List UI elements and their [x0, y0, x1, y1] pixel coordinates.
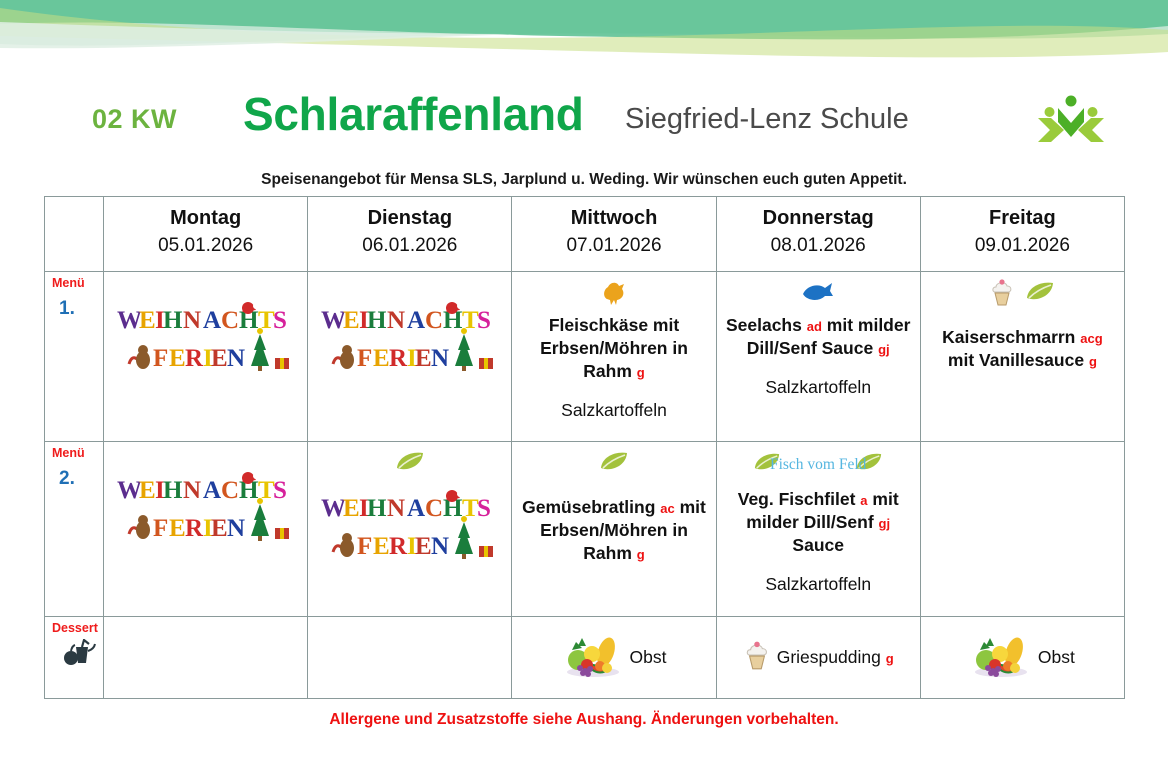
dish-text: Gemüsebratling — [522, 497, 655, 517]
weekly-menu-table: Montag 05.01.2026 Dienstag 06.01.2026 Mi… — [44, 196, 1125, 699]
day-date: 07.01.2026 — [514, 232, 713, 261]
svg-text:F: F — [153, 345, 168, 372]
svg-text:E: E — [169, 515, 186, 542]
menu-cell-menu1-montag: W E I H N A C H T S — [104, 271, 308, 441]
dessert-content: Griespudding g — [725, 621, 912, 694]
svg-text:H: H — [163, 307, 183, 334]
svg-text:S: S — [477, 307, 491, 334]
dessert-label: Griespudding g — [777, 647, 894, 668]
day-date: 05.01.2026 — [106, 232, 305, 261]
svg-text:R: R — [389, 345, 408, 372]
svg-text:E: E — [139, 307, 156, 334]
svg-text:A: A — [203, 307, 221, 334]
svg-text:N: N — [227, 515, 245, 542]
table-row-menu-2: Menü 2. W E I H N A C H — [45, 441, 1125, 616]
svg-text:C: C — [221, 307, 239, 334]
svg-text:N: N — [387, 307, 405, 334]
day-date: 06.01.2026 — [310, 232, 509, 261]
svg-text:H: H — [163, 477, 183, 504]
dish-text: Kaiserschmarrn — [942, 327, 1075, 347]
menu-cell-menu2-freitag — [920, 441, 1124, 616]
subtitle-text: Speisenangebot für Mensa SLS, Jarplund u… — [0, 171, 1168, 189]
svg-text:C: C — [425, 307, 443, 334]
dessert-cell-montag — [104, 616, 308, 698]
svg-text:E: E — [343, 495, 360, 522]
svg-text:R: R — [389, 533, 408, 560]
svg-text:S: S — [273, 477, 287, 504]
row-label-menu-1: Menü 1. — [45, 271, 104, 441]
row-label-text: Menü — [52, 447, 103, 461]
row-label-text: Dessert — [52, 622, 103, 636]
day-header-mittwoch: Mittwoch 07.01.2026 — [512, 197, 716, 272]
dessert-content: Obst — [520, 621, 707, 694]
row-number-text: 1. — [59, 298, 103, 320]
icon-row — [316, 448, 503, 482]
day-header-freitag: Freitag 09.01.2026 — [920, 197, 1124, 272]
menu-cell-menu2-mittwoch: Gemüsebratling ac mit Erbsen/Möhren in R… — [512, 441, 716, 616]
side-dish: Salzkartoffeln — [725, 573, 912, 596]
fish-icon — [801, 280, 835, 309]
icon-row — [725, 278, 912, 312]
dish-name: Fleischkäse mit Erbsen/Möhren in Rahm g — [520, 314, 707, 383]
weihnachtsferien-clipart: W E I H N A C H T S — [316, 300, 503, 381]
svg-text:R: R — [185, 345, 204, 372]
dessert-label-text: Griespudding — [777, 647, 881, 667]
day-header-montag: Montag 05.01.2026 — [104, 197, 308, 272]
dessert-content: Obst — [929, 621, 1116, 694]
menu-cell-menu1-donnerstag: Seelachs ad mit milder Dill/Senf Sauce g… — [716, 271, 920, 441]
allergen-code: acg — [1080, 331, 1102, 346]
allergen-code: g — [886, 651, 894, 666]
dish-text-rest: mit Vanillesauce — [948, 350, 1084, 370]
dessert-cell-freitag: Obst — [920, 616, 1124, 698]
row-label-text: Menü — [52, 277, 103, 291]
dish-name: Seelachs ad mit milder Dill/Senf Sauce g… — [725, 314, 912, 360]
svg-text:H: H — [367, 307, 387, 334]
dish-text: Veg. Fischfilet — [738, 489, 856, 509]
day-date: 09.01.2026 — [923, 232, 1122, 261]
row-number-text: 2. — [59, 468, 103, 490]
svg-text:F: F — [153, 515, 168, 542]
icon-row — [520, 448, 707, 482]
day-name: Donnerstag — [719, 205, 918, 232]
svg-text:A: A — [407, 307, 425, 334]
day-name: Mittwoch — [514, 205, 713, 232]
dessert-label: Obst — [1038, 647, 1075, 668]
svg-text:H: H — [367, 495, 387, 522]
svg-text:E: E — [211, 515, 228, 542]
side-dish: Salzkartoffeln — [520, 399, 707, 422]
cupcake-icon — [743, 638, 771, 677]
svg-text:C: C — [221, 477, 239, 504]
side-dish: Salzkartoffeln — [725, 376, 912, 399]
svg-text:E: E — [415, 533, 432, 560]
leaf-icon — [1025, 281, 1055, 308]
menu-cell-menu1-mittwoch: Fleischkäse mit Erbsen/Möhren in Rahm g … — [512, 271, 716, 441]
apple-drink-icon — [62, 639, 103, 672]
row-label-dessert: Dessert — [45, 616, 104, 698]
brand-title: Schlaraffenland — [243, 87, 584, 141]
dish-text: Fleischkäse mit Erbsen/Möhren in Rahm — [540, 315, 688, 381]
svg-text:S: S — [477, 495, 491, 522]
table-row-menu-1: Menü 1. W E I H N A C H — [45, 271, 1125, 441]
svg-text:N: N — [431, 345, 449, 372]
day-header-dienstag: Dienstag 06.01.2026 — [308, 197, 512, 272]
fisch-vom-feld-tagline: Fisch vom Feld — [725, 456, 912, 474]
dish-name: Gemüsebratling ac mit Erbsen/Möhren in R… — [520, 496, 707, 565]
allergen-code-2: g — [637, 547, 645, 562]
row-label-menu-2: Menü 2. — [45, 441, 104, 616]
menu-cell-menu2-donnerstag: Fisch vom Feld Veg. Fischfilet a mit mil… — [716, 441, 920, 616]
allergen-note: Allergene und Zusatzstoffe siehe Aushang… — [0, 711, 1168, 729]
menu-cell-menu1-freitag: Kaiserschmarrn acg mit Vanillesauce g — [920, 271, 1124, 441]
svg-text:E: E — [211, 345, 228, 372]
dish-name: Veg. Fischfilet a mit milder Dill/Senf g… — [725, 488, 912, 557]
day-name: Dienstag — [310, 205, 509, 232]
allergen-code-2: g — [1089, 354, 1097, 369]
leaf-icon — [395, 451, 425, 478]
svg-text:E: E — [139, 477, 156, 504]
cupcake-icon — [989, 277, 1015, 312]
header-corner-cell — [45, 197, 104, 272]
dessert-cell-dienstag — [308, 616, 512, 698]
dessert-label: Obst — [630, 647, 667, 668]
fruit-bowl-icon — [562, 632, 624, 683]
leaf-icon — [599, 451, 629, 478]
svg-text:E: E — [415, 345, 432, 372]
svg-text:N: N — [183, 307, 201, 334]
svg-text:N: N — [227, 345, 245, 372]
dish-text: Seelachs — [726, 315, 802, 335]
svg-text:E: E — [169, 345, 186, 372]
day-name: Montag — [106, 205, 305, 232]
menu-cell-menu2-dienstag: W E I H N A C H T S — [308, 441, 512, 616]
weihnachtsferien-clipart: W E I H N A C H T S — [112, 300, 299, 381]
allergen-code: ac — [660, 501, 674, 516]
weihnachtsferien-clipart: W E I H N A C H T S — [112, 470, 299, 551]
svg-text:F: F — [357, 533, 372, 560]
svg-text:N: N — [183, 477, 201, 504]
svg-text:C: C — [425, 495, 443, 522]
svg-text:E: E — [373, 345, 390, 372]
dish-text-rest-2: Sauce — [792, 535, 844, 555]
header-wave-banner — [0, 0, 1168, 58]
allergen-code-2: gj — [879, 516, 891, 531]
menu-cell-menu2-montag: W E I H N A C H T S — [104, 441, 308, 616]
table-header-row: Montag 05.01.2026 Dienstag 06.01.2026 Mi… — [45, 197, 1125, 272]
svg-text:N: N — [431, 533, 449, 560]
title-row: 02 KW Schlaraffenland Siegfried-Lenz Sch… — [0, 96, 1168, 152]
chicken-icon — [599, 277, 629, 312]
dessert-cell-donnerstag: Griespudding g — [716, 616, 920, 698]
allergen-code: ad — [807, 319, 822, 334]
allergen-code: g — [637, 365, 645, 380]
svg-text:R: R — [185, 515, 204, 542]
svg-text:N: N — [387, 495, 405, 522]
icon-row — [929, 278, 1116, 312]
svg-text:A: A — [407, 495, 425, 522]
svg-text:E: E — [343, 307, 360, 334]
weihnachtsferien-clipart: W E I H N A C H T S — [316, 488, 503, 569]
svg-text:A: A — [203, 477, 221, 504]
three-people-logo-icon — [1036, 94, 1106, 150]
week-number-label: 02 KW — [92, 104, 177, 135]
allergen-code-2: gj — [878, 342, 890, 357]
dessert-cell-mittwoch: Obst — [512, 616, 716, 698]
allergen-code: a — [860, 493, 867, 508]
svg-text:S: S — [273, 307, 287, 334]
school-title: Siegfried-Lenz Schule — [625, 103, 909, 136]
day-date: 08.01.2026 — [719, 232, 918, 261]
icon-row — [520, 278, 707, 312]
dish-name: Kaiserschmarrn acg mit Vanillesauce g — [929, 326, 1116, 372]
svg-text:F: F — [357, 345, 372, 372]
svg-text:E: E — [373, 533, 390, 560]
day-name: Freitag — [923, 205, 1122, 232]
table-row-dessert: Dessert — [45, 616, 1125, 698]
fruit-bowl-icon — [970, 632, 1032, 683]
day-header-donnerstag: Donnerstag 08.01.2026 — [716, 197, 920, 272]
menu-cell-menu1-dienstag: W E I H N A C H T S — [308, 271, 512, 441]
